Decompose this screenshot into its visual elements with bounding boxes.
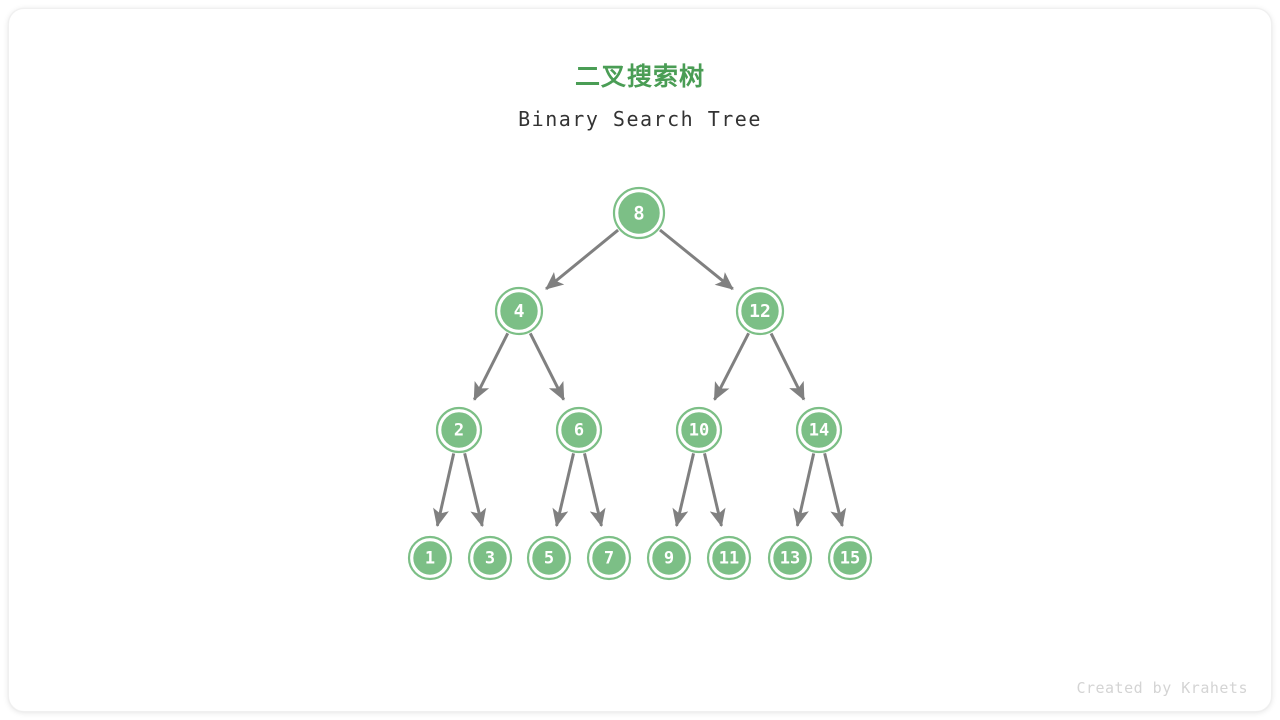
tree-edge xyxy=(546,230,618,289)
credit-text: Created by Krahets xyxy=(1076,679,1248,697)
tree-edge xyxy=(771,333,804,399)
node-value-label: 6 xyxy=(574,421,584,441)
tree-node: 4 xyxy=(496,288,542,334)
tree-edge xyxy=(474,333,507,399)
binary-search-tree-diagram: 841226101413579111315 xyxy=(0,0,1280,720)
tree-node: 10 xyxy=(677,408,721,452)
tree-edge xyxy=(660,230,733,289)
tree-node: 1 xyxy=(409,537,451,579)
tree-node: 6 xyxy=(557,408,601,452)
tree-node: 14 xyxy=(797,408,841,452)
tree-edge xyxy=(797,453,813,525)
node-value-label: 12 xyxy=(749,301,771,322)
tree-edge xyxy=(557,453,574,526)
node-value-label: 14 xyxy=(809,421,829,441)
tree-edge xyxy=(465,453,483,526)
node-value-label: 11 xyxy=(719,549,739,569)
tree-node: 13 xyxy=(769,537,811,579)
node-value-label: 2 xyxy=(454,421,464,441)
node-value-label: 5 xyxy=(544,549,554,569)
tree-edge xyxy=(715,333,749,399)
node-value-label: 15 xyxy=(840,549,860,569)
tree-node: 15 xyxy=(829,537,871,579)
node-value-label: 4 xyxy=(514,301,525,322)
node-value-label: 1 xyxy=(425,549,435,569)
node-value-label: 9 xyxy=(664,549,674,569)
tree-node: 11 xyxy=(708,537,750,579)
tree-node: 3 xyxy=(469,537,511,579)
node-value-label: 10 xyxy=(689,421,709,441)
tree-edge xyxy=(704,453,721,526)
node-value-label: 7 xyxy=(604,549,614,569)
tree-edge xyxy=(825,453,843,526)
figure-canvas: 二叉搜索树 Binary Search Tree 841226101413579… xyxy=(0,0,1280,720)
tree-node: 12 xyxy=(737,288,783,334)
tree-node: 9 xyxy=(648,537,690,579)
node-value-label: 3 xyxy=(485,549,495,569)
tree-node: 8 xyxy=(614,188,664,238)
node-value-label: 8 xyxy=(633,203,644,225)
tree-edge xyxy=(530,333,563,399)
node-value-label: 13 xyxy=(780,549,800,569)
tree-edges xyxy=(437,230,842,526)
tree-edge xyxy=(584,453,601,526)
tree-edge xyxy=(677,453,694,526)
tree-node: 7 xyxy=(588,537,630,579)
tree-nodes: 841226101413579111315 xyxy=(409,188,871,579)
tree-edge xyxy=(437,453,453,525)
tree-node: 2 xyxy=(437,408,481,452)
tree-node: 5 xyxy=(528,537,570,579)
